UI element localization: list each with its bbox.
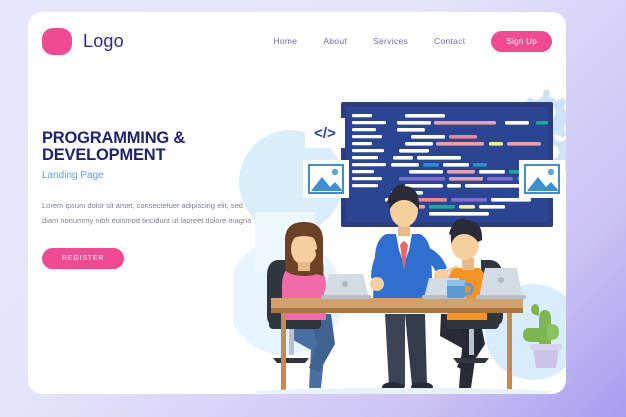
team-coding-workspace-illustration: </> bbox=[233, 62, 566, 394]
image-icon bbox=[519, 160, 565, 198]
svg-text:</>: </> bbox=[314, 125, 336, 142]
brand[interactable]: Logo bbox=[42, 28, 124, 55]
register-button[interactable]: REGISTER bbox=[42, 248, 124, 269]
nav-link-home[interactable]: Home bbox=[273, 36, 297, 46]
logo-mark-icon bbox=[42, 28, 72, 55]
code-tag-icon: </> bbox=[305, 118, 345, 148]
laptop bbox=[321, 274, 371, 299]
nav-link-services[interactable]: Services bbox=[373, 36, 408, 46]
nav-links: Home About Services Contact Sign Up bbox=[273, 31, 552, 52]
nav-link-contact[interactable]: Contact bbox=[434, 36, 465, 46]
sign-up-button[interactable]: Sign Up bbox=[491, 31, 552, 52]
hero-body-text: Lorem ipsum dolor sit amet, consectetuer… bbox=[42, 198, 254, 228]
logo-text: Logo bbox=[83, 31, 124, 52]
landing-page-card: Logo Home About Services Contact Sign Up… bbox=[28, 12, 566, 394]
nav-link-about[interactable]: About bbox=[323, 36, 347, 46]
image-icon bbox=[303, 160, 349, 198]
